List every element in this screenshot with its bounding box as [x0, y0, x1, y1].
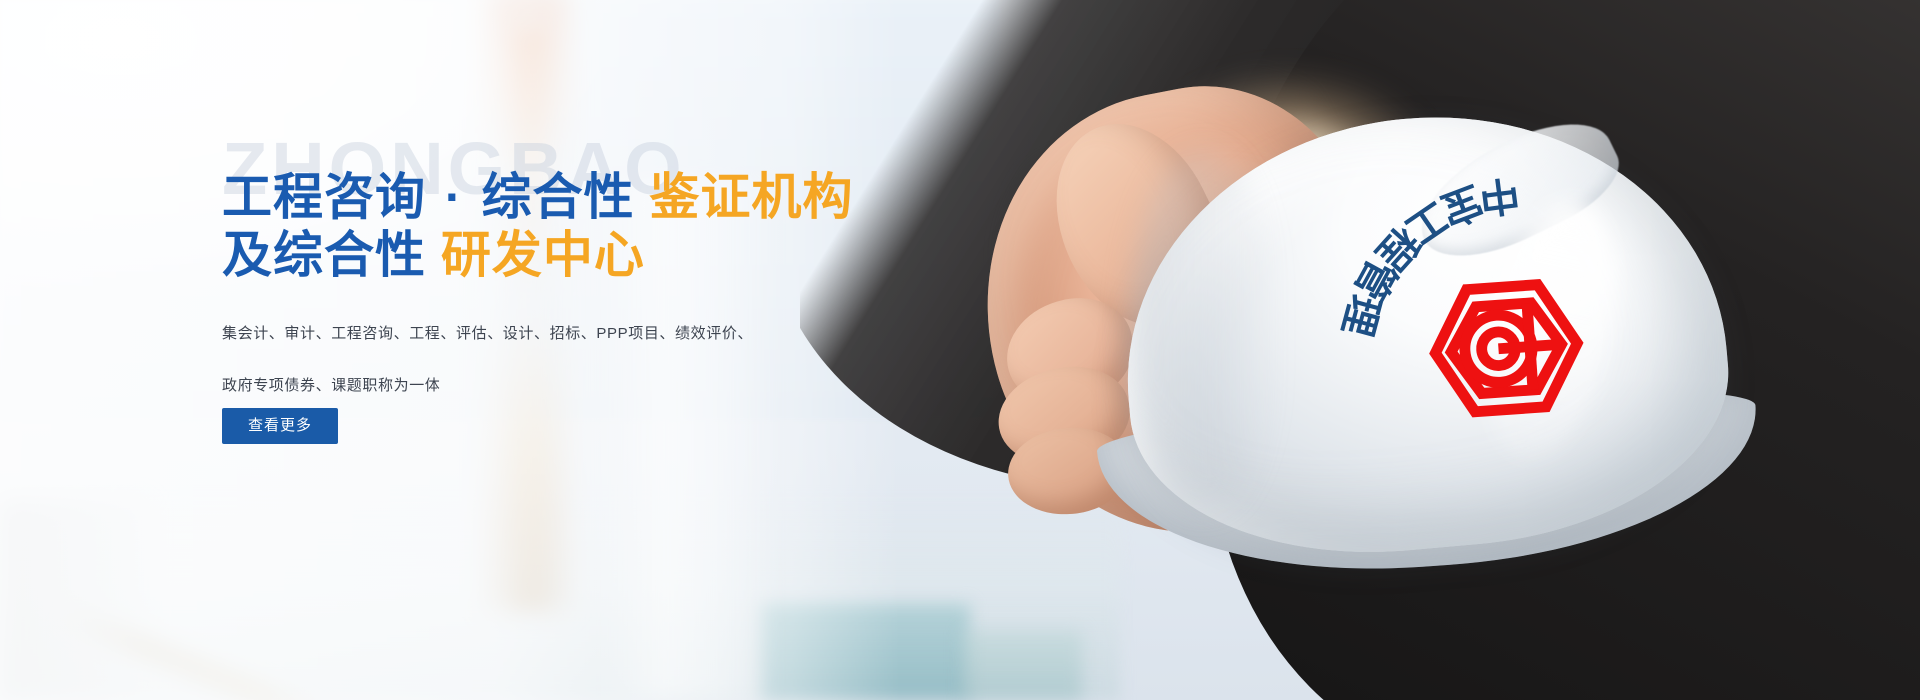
headline-separator-icon: · — [441, 169, 467, 225]
headline-line-2: 及综合性 研发中心 — [222, 226, 1002, 284]
company-logo: 中宝工程管理 — [1289, 148, 1672, 512]
headline-line-1: 工程咨询 · 综合性 鉴证机构 — [222, 168, 1002, 226]
headline: 工程咨询 · 综合性 鉴证机构 及综合性 研发中心 — [222, 168, 1002, 284]
headline-line-2-part-1: 及综合性 — [222, 227, 426, 283]
hero-content: ZHONGBAO 工程咨询 · 综合性 鉴证机构 及综合性 研发中心 集会计、审… — [222, 0, 1002, 700]
headline-line-2-accent: 研发中心 — [441, 227, 645, 283]
subtitle: 集会计、审计、工程咨询、工程、评估、设计、招标、PPP项目、绩效评价、 政府专项… — [222, 308, 822, 412]
subtitle-line-1: 集会计、审计、工程咨询、工程、评估、设计、招标、PPP项目、绩效评价、 — [222, 308, 822, 360]
view-more-button[interactable]: 查看更多 — [222, 408, 338, 444]
helmet-shadow — [1130, 150, 1280, 510]
headline-line-1-part-1: 工程咨询 — [222, 169, 426, 225]
zhongbao-hexagon-emblem-icon — [1423, 273, 1590, 424]
hero-banner: 中宝工程管理 ZHONGBAO 工程咨询 — [0, 0, 1920, 700]
headline-line-1-accent: 鉴证机构 — [649, 169, 853, 225]
subtitle-line-2: 政府专项债券、课题职称为一体 — [222, 360, 822, 412]
headline-line-1-part-2: 综合性 — [481, 169, 634, 225]
